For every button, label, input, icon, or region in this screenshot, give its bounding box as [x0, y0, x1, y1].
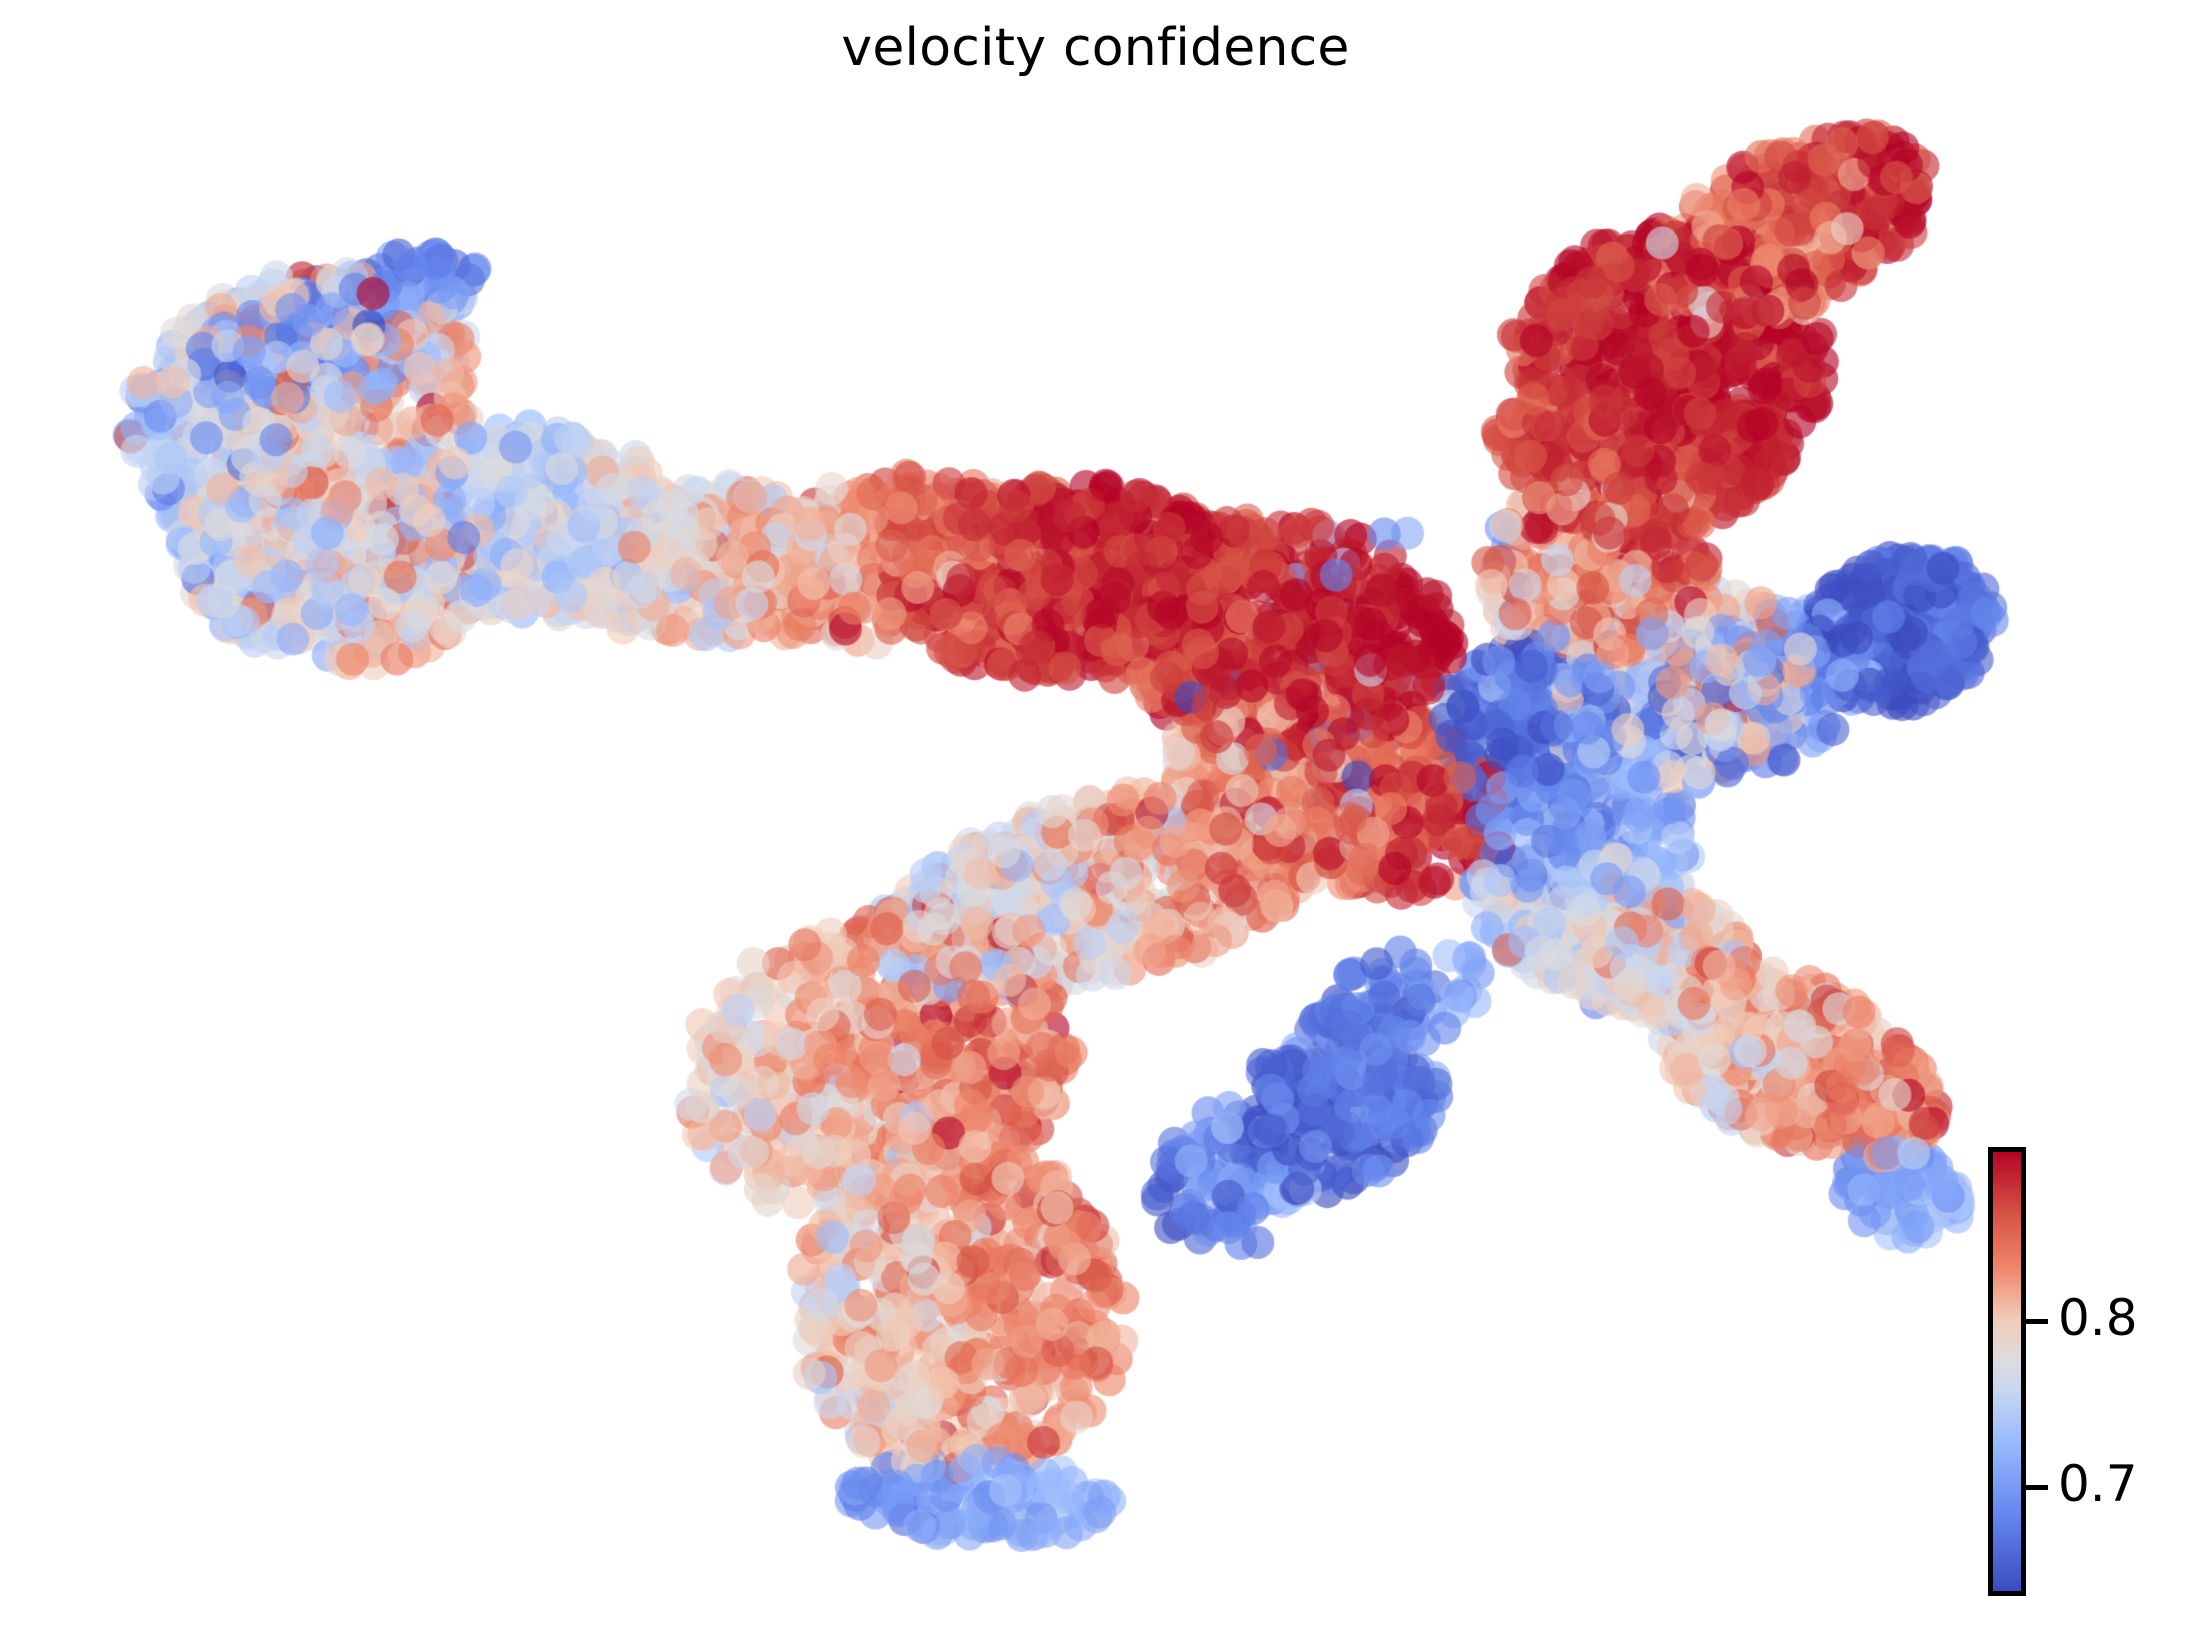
colorbar-label-0-7: 0.7 [2058, 1459, 2138, 1509]
colorbar-gradient [1993, 1152, 2021, 1591]
colorbar-tick-0-7 [2026, 1485, 2048, 1490]
figure-canvas: velocity confidence 0.8 0.7 [0, 0, 2191, 1633]
page-title: velocity confidence [0, 18, 2191, 78]
colorbar-label-0-8: 0.8 [2058, 1293, 2138, 1343]
scatter-plot [0, 0, 2191, 1633]
colorbar [1988, 1147, 2026, 1596]
colorbar-tick-0-8 [2026, 1319, 2048, 1324]
